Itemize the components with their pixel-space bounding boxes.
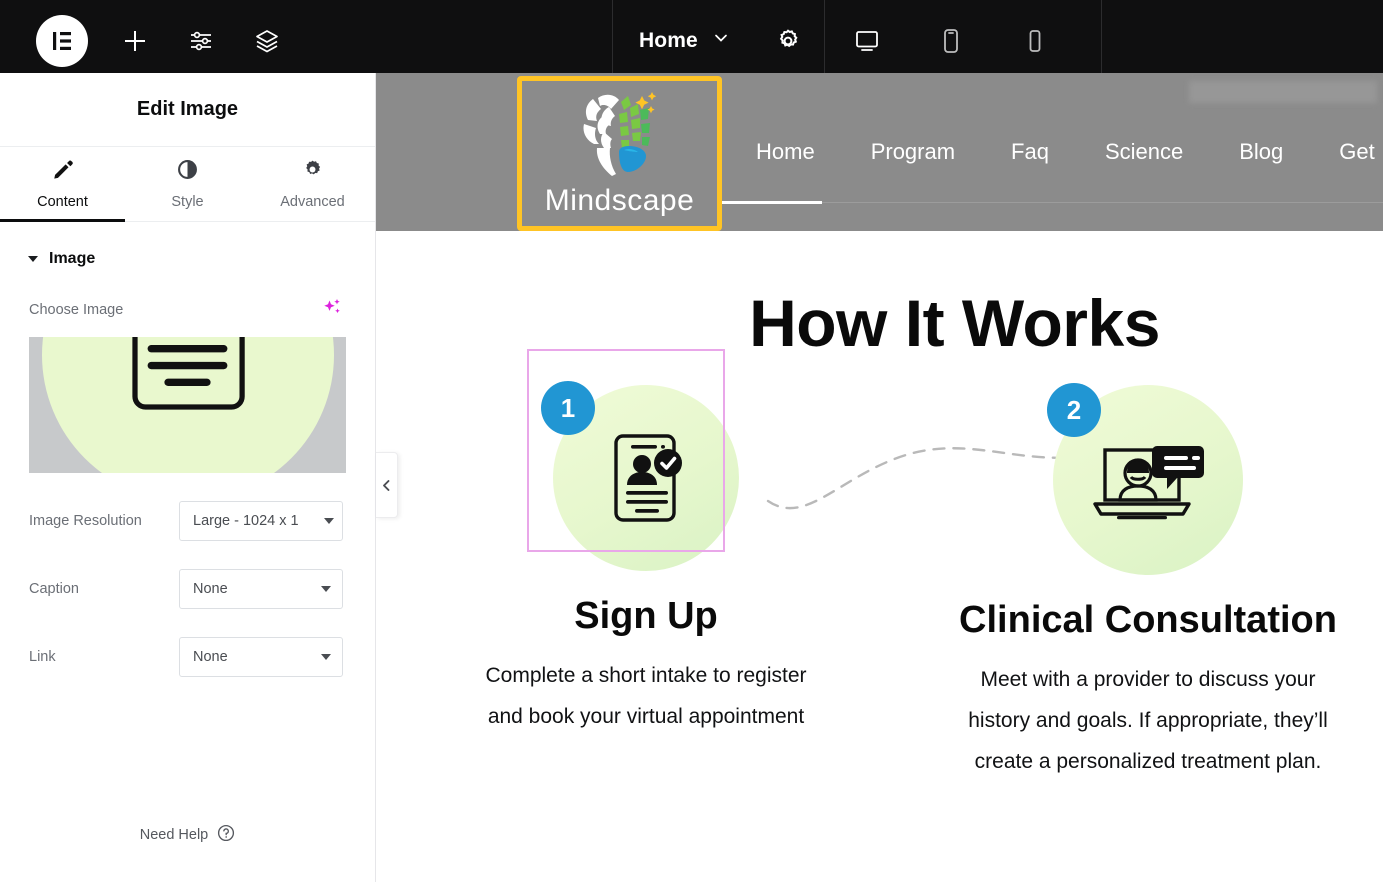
page-name-label: Home — [639, 29, 698, 53]
link-value: None — [193, 649, 228, 665]
image-resolution-select[interactable]: Large - 1024 x 1 — [179, 501, 343, 541]
page-title: How It Works — [376, 285, 1383, 361]
caption-row: Caption None — [0, 569, 375, 609]
responsive-mode-switcher — [825, 0, 1077, 81]
caption-select[interactable]: None — [179, 569, 343, 609]
step-card-2: 2 Clinical Co — [948, 385, 1348, 783]
panel-title: Edit Image — [0, 73, 375, 147]
step-2-icon-circle[interactable]: 2 — [1053, 385, 1243, 575]
choose-image-row: Choose Image — [0, 296, 375, 323]
choose-image-label: Choose Image — [29, 302, 123, 318]
nav-item-get[interactable]: Get — [1311, 139, 1383, 165]
panel-tabs: Content Style Advanced — [0, 147, 375, 222]
question-circle-icon — [217, 824, 235, 846]
add-element-button[interactable] — [102, 0, 168, 81]
editor-canvas: Mindscape Home Program Faq Science Blog … — [376, 73, 1383, 882]
site-logo-widget[interactable]: Mindscape — [517, 76, 722, 231]
nav-item-home[interactable]: Home — [728, 139, 843, 165]
step-2-description: Meet with a provider to discuss your his… — [948, 660, 1348, 783]
elementor-settings-panel: Edit Image Content Style — [0, 73, 376, 882]
tab-advanced[interactable]: Advanced — [250, 147, 375, 221]
step-card-1: 1 — [460, 385, 832, 738]
nav-item-faq[interactable]: Faq — [983, 139, 1077, 165]
ai-sparkle-icon[interactable] — [321, 296, 343, 323]
layers-icon[interactable] — [234, 0, 300, 81]
step-2-title: Clinical Consultation — [948, 599, 1348, 642]
chevron-down-icon — [321, 654, 331, 660]
image-resolution-row: Image Resolution Large - 1024 x 1 — [0, 501, 375, 541]
chevron-left-icon — [381, 479, 392, 492]
tab-style[interactable]: Style — [125, 147, 250, 221]
caption-label: Caption — [29, 581, 79, 597]
site-header: Mindscape Home Program Faq Science Blog … — [376, 73, 1383, 231]
tab-content-label: Content — [37, 194, 88, 210]
image-resolution-value: Large - 1024 x 1 — [193, 513, 299, 529]
need-help-label: Need Help — [140, 827, 209, 843]
nav-item-science[interactable]: Science — [1077, 139, 1211, 165]
editor-top-bar: Home — [0, 0, 1383, 81]
chevron-down-icon — [324, 518, 334, 524]
gear-icon — [302, 159, 323, 185]
responsive-mobile-button[interactable] — [993, 0, 1077, 81]
step-1-description: Complete a short intake to register and … — [460, 656, 832, 738]
header-rule — [822, 202, 1383, 203]
site-logo-text: Mindscape — [545, 184, 695, 218]
chevron-down-icon — [28, 256, 38, 262]
elementor-logo-icon[interactable] — [36, 15, 88, 67]
toolbar-divider-3 — [1101, 0, 1102, 81]
sliders-icon[interactable] — [168, 0, 234, 81]
need-help-link[interactable]: Need Help — [0, 824, 375, 846]
link-row: Link None — [0, 637, 375, 677]
panel-collapse-button[interactable] — [376, 452, 398, 518]
link-select[interactable]: None — [179, 637, 343, 677]
step-1-badge: 1 — [541, 381, 595, 435]
image-thumbnail-preview[interactable] — [29, 337, 346, 473]
step-1-icon-circle[interactable]: 1 — [553, 385, 739, 571]
tab-style-label: Style — [171, 194, 203, 210]
contrast-icon — [177, 159, 198, 185]
tab-advanced-label: Advanced — [280, 194, 345, 210]
chevron-down-icon — [712, 29, 730, 52]
responsive-tablet-button[interactable] — [909, 0, 993, 81]
page-settings-button[interactable] — [774, 27, 802, 55]
page-selector[interactable]: Home — [613, 0, 752, 81]
nav-item-program[interactable]: Program — [843, 139, 983, 165]
section-image-header[interactable]: Image — [0, 222, 375, 268]
caption-value: None — [193, 581, 228, 597]
step-2-badge: 2 — [1047, 383, 1101, 437]
section-image-title: Image — [49, 250, 95, 268]
site-nav: Home Program Faq Science Blog Get — [728, 73, 1383, 231]
nav-item-blog[interactable]: Blog — [1211, 139, 1311, 165]
image-thumbnail-inner — [42, 337, 334, 473]
responsive-desktop-button[interactable] — [825, 0, 909, 81]
pencil-icon — [52, 159, 73, 185]
step-1-title: Sign Up — [460, 595, 832, 638]
signup-form-person-check-icon — [594, 426, 698, 530]
mindscape-tree-brain-logo — [572, 90, 668, 182]
link-label: Link — [29, 649, 56, 665]
header-accent-underline — [722, 201, 822, 204]
laptop-video-consult-icon — [1089, 428, 1207, 532]
image-resolution-label: Image Resolution — [29, 513, 142, 529]
chevron-down-icon — [321, 586, 331, 592]
tab-content[interactable]: Content — [0, 147, 125, 221]
